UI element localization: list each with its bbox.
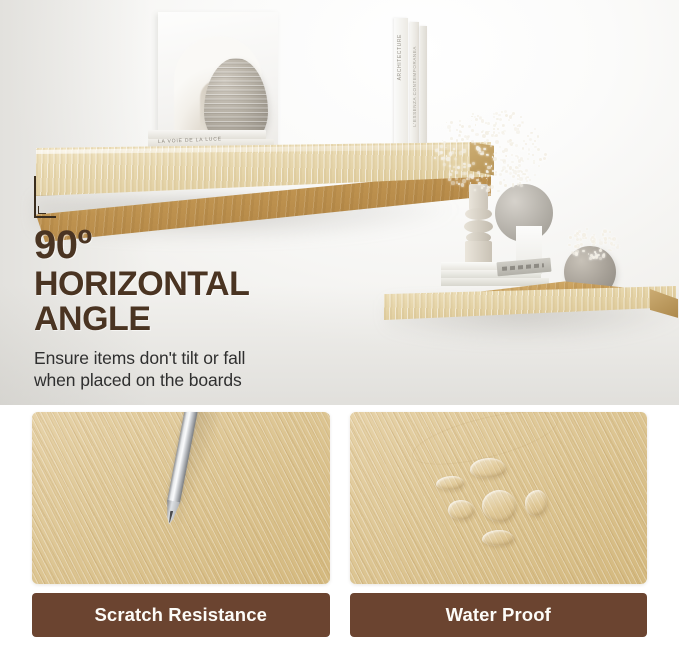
feature-label-scratch-resistance: Scratch Resistance — [32, 593, 330, 637]
book-spine-1-text: ARCHITECTURE — [397, 34, 403, 80]
screwdriver-icon — [148, 412, 216, 535]
headline-block: 90º HORIZONTAL ANGLE Ensure items don't … — [34, 226, 364, 391]
subtitle-line-1: Ensure items don't tilt or fall — [34, 347, 364, 369]
water-droplet — [482, 530, 514, 546]
subtitle-line-2: when placed on the boards — [34, 369, 364, 391]
lower-floating-shelf — [384, 278, 676, 350]
vase-ring — [465, 208, 492, 220]
feature-card-water-proof: Water Proof — [350, 412, 648, 646]
water-droplet — [525, 490, 547, 516]
feature-label-water-proof: Water Proof — [350, 593, 648, 637]
angle-vertical-line — [34, 176, 36, 218]
water-droplets-group — [350, 412, 648, 584]
subtitle: Ensure items don't tilt or fall when pla… — [34, 347, 364, 392]
scratch-resistance-swatch — [32, 412, 330, 584]
headline-line-3: ANGLE — [34, 303, 364, 336]
water-proof-swatch — [350, 412, 648, 584]
headline-degree: 90º — [34, 226, 364, 264]
angle-square-symbol — [38, 206, 46, 214]
lower-shelf-front-edge — [384, 286, 676, 320]
feature-cards: Scratch Resistance Water Proof — [0, 412, 679, 646]
water-droplet — [482, 490, 516, 522]
headline-line-2: HORIZONTAL — [34, 268, 364, 301]
angle-horizontal-line — [34, 216, 56, 218]
right-angle-marker-icon — [30, 176, 56, 220]
water-droplet — [436, 476, 464, 490]
feature-card-scratch-resistance: Scratch Resistance — [32, 412, 330, 646]
water-droplet — [470, 458, 506, 478]
vase-neck — [469, 184, 488, 210]
hero-shelf-photo: ARCHITECTURE L'ESSENZA CONTEMPORANEA LA … — [0, 0, 679, 405]
book-spine-2-text: L'ESSENZA CONTEMPORANEA — [412, 46, 417, 127]
water-droplet — [448, 500, 474, 520]
feature-graphic-page: ARCHITECTURE L'ESSENZA CONTEMPORANEA LA … — [0, 0, 679, 646]
